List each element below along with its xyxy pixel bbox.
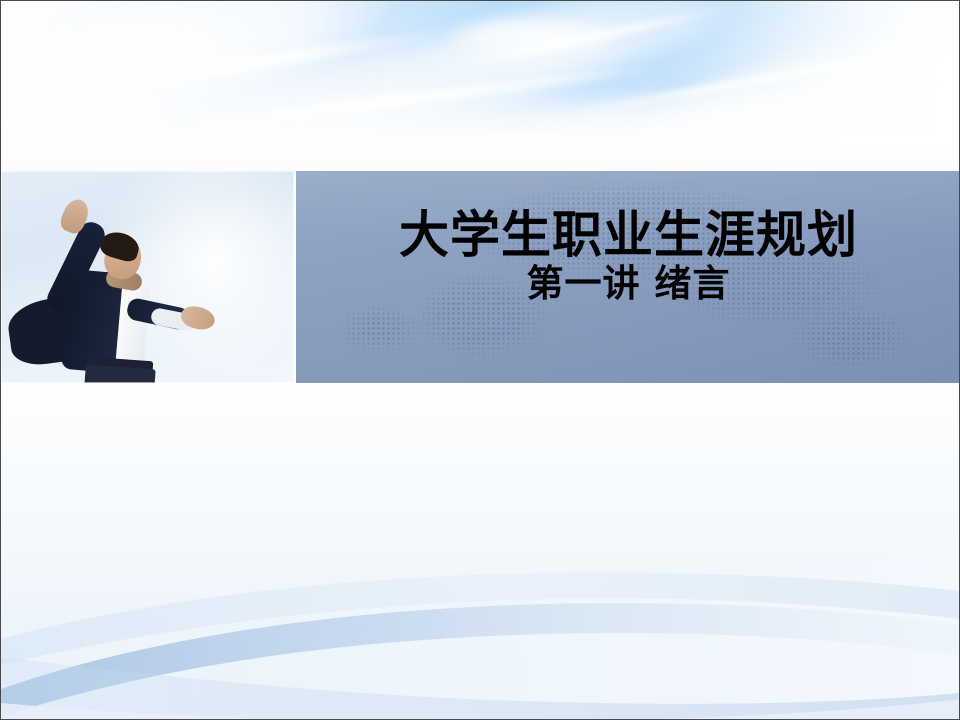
title-header-row: 大学生职业生涯规划 第一讲 绪言: [1, 171, 960, 383]
page-subtitle: 第一讲 绪言: [296, 264, 960, 305]
person-photo: [1, 171, 294, 383]
header-divider-strip: [1, 149, 960, 171]
title-banner: 大学生职业生涯规划 第一讲 绪言: [296, 171, 960, 383]
title-text-block: 大学生职业生涯规划 第一讲 绪言: [296, 209, 960, 305]
sky-bottom-fade: [1, 87, 960, 149]
wave-decoration: [1, 489, 960, 719]
page-title: 大学生职业生涯规划: [296, 209, 960, 262]
slide-content-area: [1, 383, 960, 719]
sky-header-image: [1, 1, 960, 149]
photo-inner-border: [1, 171, 294, 383]
presentation-slide: 大学生职业生涯规划 第一讲 绪言: [0, 0, 960, 720]
